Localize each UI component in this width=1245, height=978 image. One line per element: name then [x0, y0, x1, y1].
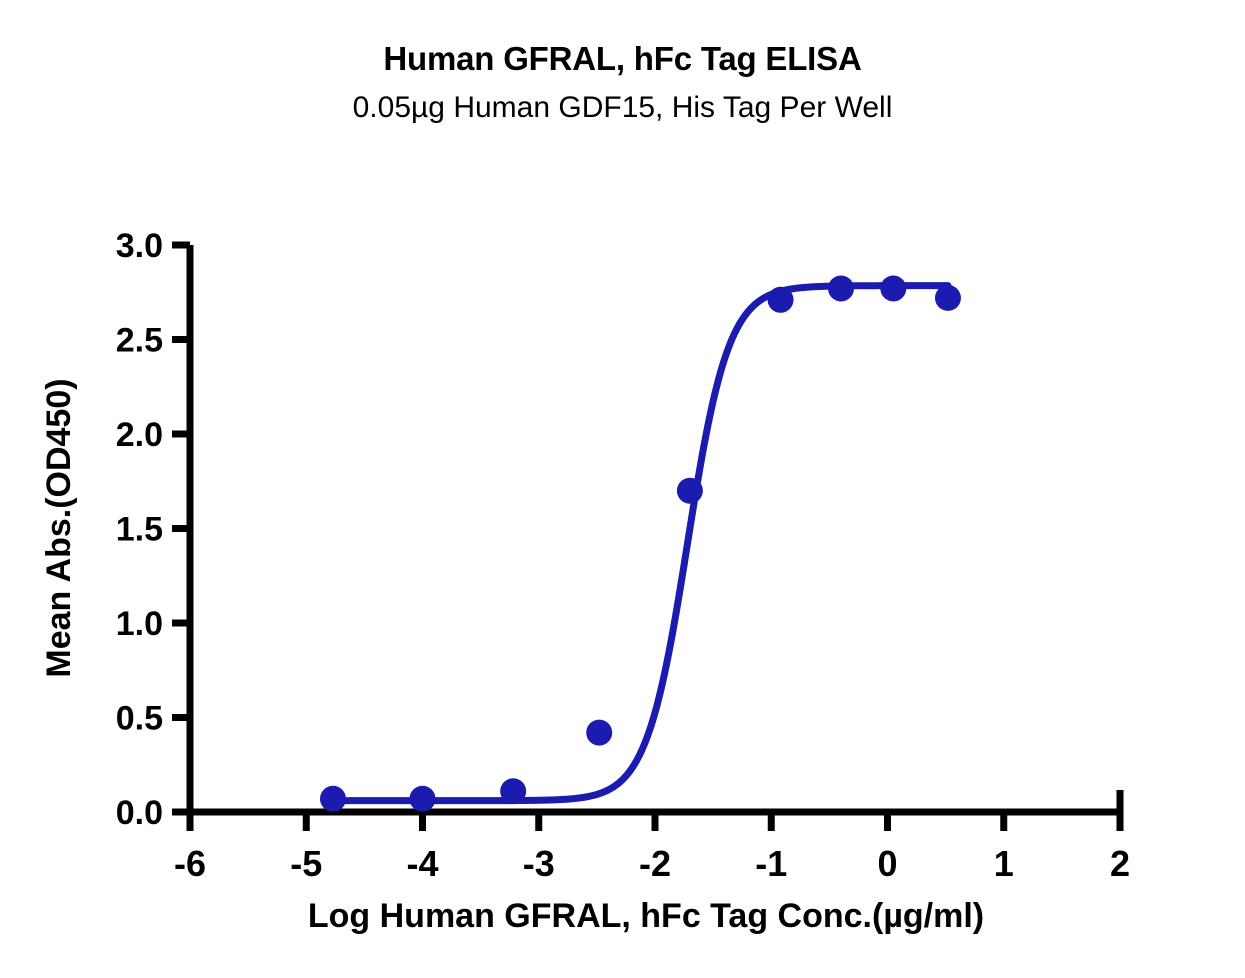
data-point [500, 778, 526, 804]
data-point [677, 478, 703, 504]
plot-area: 0.00.51.01.52.02.53.0 -6-5-4-3-2-1012 Lo… [0, 0, 1245, 978]
data-point [410, 786, 436, 812]
elisa-chart: Human GFRAL, hFc Tag ELISA 0.05µg Human … [0, 0, 1245, 978]
data-point [828, 275, 854, 301]
y-tick-label: 2.0 [116, 416, 163, 454]
x-tick-label: 1 [994, 843, 1014, 884]
x-tick-label: -2 [639, 843, 671, 884]
x-tick-label: -6 [174, 843, 206, 884]
data-point [586, 720, 612, 746]
y-axis-tick-labels: 0.00.51.01.52.02.53.0 [116, 227, 163, 832]
y-tick-label: 2.5 [116, 322, 163, 360]
x-tick-label: -4 [406, 843, 438, 884]
x-tick-label: -3 [523, 843, 555, 884]
data-point [880, 275, 906, 301]
data-point [935, 285, 961, 311]
x-tick-label: -1 [755, 843, 787, 884]
y-tick-label: 0.0 [116, 794, 163, 832]
data-point [768, 287, 794, 313]
series-curve [333, 286, 948, 801]
series-data-points [320, 275, 961, 811]
y-axis-title: Mean Abs.(OD450) [40, 378, 78, 677]
y-tick-label: 1.5 [116, 511, 163, 549]
x-tick-label: 2 [1110, 843, 1130, 884]
y-tick-label: 0.5 [116, 700, 163, 738]
y-tick-label: 1.0 [116, 605, 163, 643]
x-tick-label: -5 [290, 843, 322, 884]
x-axis-title: Log Human GFRAL, hFc Tag Conc.(µg/ml) [308, 897, 984, 935]
y-tick-label: 3.0 [116, 227, 163, 265]
data-point [320, 786, 346, 812]
x-axis-tick-labels: -6-5-4-3-2-1012 [174, 843, 1130, 884]
x-tick-label: 0 [877, 843, 897, 884]
